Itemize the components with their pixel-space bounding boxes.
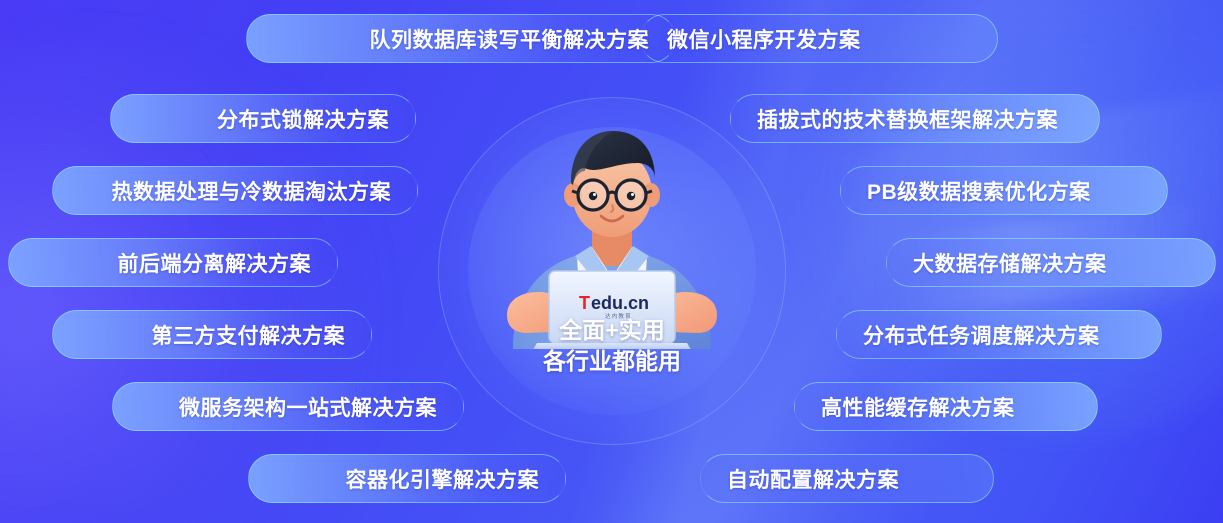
solution-pill-right-4[interactable]: 大数据存储解决方案 bbox=[886, 238, 1216, 287]
solution-pill-label: 分布式锁解决方案 bbox=[217, 104, 389, 134]
center-illustration: T edu.cn 达内教育 全面+实用 各行业都能用 bbox=[438, 97, 786, 445]
center-tagline-line-2: 各行业都能用 bbox=[438, 346, 786, 377]
solution-pill-right-1[interactable]: 微信小程序开发方案 bbox=[640, 14, 998, 63]
solution-pill-left-1[interactable]: 队列数据库读写平衡解决方案 bbox=[246, 14, 676, 63]
solution-pill-left-6[interactable]: 微服务架构一站式解决方案 bbox=[112, 382, 464, 431]
solution-pill-right-6[interactable]: 高性能缓存解决方案 bbox=[794, 382, 1098, 431]
solution-pill-label: 高性能缓存解决方案 bbox=[821, 392, 1015, 422]
solution-pill-right-3[interactable]: PB级数据搜索优化方案 bbox=[840, 166, 1168, 215]
solution-pill-left-4[interactable]: 前后端分离解决方案 bbox=[8, 238, 338, 287]
solution-pill-left-3[interactable]: 热数据处理与冷数据淘汰方案 bbox=[52, 166, 418, 215]
solution-pill-right-7[interactable]: 自动配置解决方案 bbox=[700, 454, 994, 503]
promo-banner: 队列数据库读写平衡解决方案 分布式锁解决方案 热数据处理与冷数据淘汰方案 前后端… bbox=[0, 0, 1223, 523]
solution-pill-label: 前后端分离解决方案 bbox=[118, 248, 312, 278]
solution-pill-right-5[interactable]: 分布式任务调度解决方案 bbox=[836, 310, 1162, 359]
solution-pill-label: 微服务架构一站式解决方案 bbox=[179, 392, 437, 422]
solution-pill-label: 大数据存储解决方案 bbox=[913, 248, 1107, 278]
center-tagline: 全面+实用 各行业都能用 bbox=[438, 315, 786, 377]
solution-pill-label: PB级数据搜索优化方案 bbox=[867, 176, 1091, 206]
center-tagline-line-1: 全面+实用 bbox=[438, 315, 786, 346]
logo-letter-t: T bbox=[579, 293, 590, 313]
solution-pill-label: 热数据处理与冷数据淘汰方案 bbox=[112, 176, 392, 206]
solution-pill-label: 自动配置解决方案 bbox=[727, 464, 899, 494]
solution-pill-label: 队列数据库读写平衡解决方案 bbox=[370, 24, 650, 54]
solution-pill-label: 第三方支付解决方案 bbox=[152, 320, 346, 350]
solution-pill-label: 微信小程序开发方案 bbox=[667, 24, 861, 54]
solution-pill-left-5[interactable]: 第三方支付解决方案 bbox=[52, 310, 372, 359]
solution-pill-left-2[interactable]: 分布式锁解决方案 bbox=[110, 94, 416, 143]
solution-pill-left-7[interactable]: 容器化引擎解决方案 bbox=[248, 454, 566, 503]
solution-pill-label: 插拔式的技术替换框架解决方案 bbox=[757, 104, 1058, 134]
solution-pill-label: 分布式任务调度解决方案 bbox=[863, 320, 1100, 350]
solution-pill-label: 容器化引擎解决方案 bbox=[346, 464, 540, 494]
logo-text-rest: edu.cn bbox=[591, 293, 649, 313]
